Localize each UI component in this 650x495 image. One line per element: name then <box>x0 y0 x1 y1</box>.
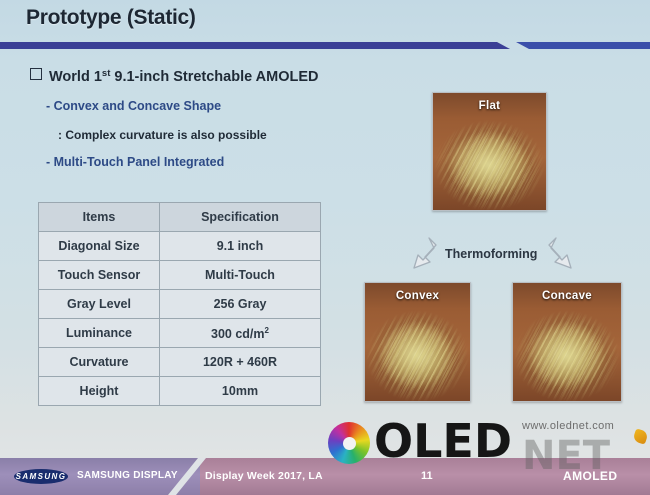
table-cell-item: Height <box>39 377 160 406</box>
bullet-sub-3: - Multi-Touch Panel Integrated <box>46 155 224 169</box>
arrow-down-right-icon <box>546 235 580 277</box>
amoled-brand-label: AMOLED <box>563 469 617 483</box>
page-number: 11 <box>421 470 433 482</box>
title-divider-rule <box>0 41 650 50</box>
table-cell-item: Gray Level <box>39 290 160 319</box>
table-cell-item: Diagonal Size <box>39 232 160 261</box>
photo-convex-panel: Convex <box>364 282 471 402</box>
unit-superscript: 2 <box>265 326 269 335</box>
table-cell-spec: 256 Gray <box>160 290 321 319</box>
table-cell-item: Luminance <box>39 319 160 348</box>
samsung-logo: SAMSUNG <box>14 469 68 484</box>
bullet-sub-1: - Convex and Concave Shape <box>46 99 221 113</box>
bullet-main-text: World 1 <box>49 69 102 85</box>
watermark-url-text: www.olednet.com <box>522 420 614 432</box>
table-cell-spec: 300 cd/m2 <box>160 319 321 348</box>
checkbox-bullet-icon <box>30 68 42 80</box>
table-cell-item: Curvature <box>39 348 160 377</box>
bullet-sub-2: : Complex curvature is also possible <box>58 128 267 142</box>
photo-convex-label: Convex <box>365 290 470 302</box>
table-header-cell: Items <box>39 203 160 232</box>
table-header-row: ItemsSpecification <box>39 203 321 232</box>
event-label: Display Week 2017, LA <box>205 470 323 482</box>
slide-footer: SAMSUNG SAMSUNG DISPLAY Display Week 201… <box>0 458 650 495</box>
specification-table: ItemsSpecificationDiagonal Size9.1 inchT… <box>38 202 321 406</box>
photo-flat-panel: Flat <box>432 92 547 211</box>
arrow-down-left-icon <box>405 235 439 277</box>
thermoforming-label: Thermoforming <box>445 247 537 261</box>
photo-concave-panel: Concave <box>512 282 622 402</box>
table-row: Height10mm <box>39 377 321 406</box>
photo-concave-label: Concave <box>513 290 621 302</box>
table-row: Luminance300 cd/m2 <box>39 319 321 348</box>
samsung-display-label: SAMSUNG DISPLAY <box>77 470 178 481</box>
table-row: Gray Level256 Gray <box>39 290 321 319</box>
table-cell-spec: 120R + 460R <box>160 348 321 377</box>
slide-canvas: Prototype (Static) World 1st 9.1-inch St… <box>0 0 650 495</box>
table-header-cell: Specification <box>160 203 321 232</box>
table-cell-spec: 9.1 inch <box>160 232 321 261</box>
table-row: Diagonal Size9.1 inch <box>39 232 321 261</box>
table-row: Curvature120R + 460R <box>39 348 321 377</box>
watermark-dot-icon <box>632 428 648 444</box>
table-cell-spec: Multi-Touch <box>160 261 321 290</box>
table-cell-item: Touch Sensor <box>39 261 160 290</box>
page-title: Prototype (Static) <box>26 6 196 30</box>
bullet-main-rest: 9.1-inch Stretchable AMOLED <box>110 69 318 85</box>
photo-flat-label: Flat <box>433 100 546 112</box>
table-cell-spec: 10mm <box>160 377 321 406</box>
bullet-main: World 1st 9.1-inch Stretchable AMOLED <box>30 68 319 85</box>
table-row: Touch SensorMulti-Touch <box>39 261 321 290</box>
